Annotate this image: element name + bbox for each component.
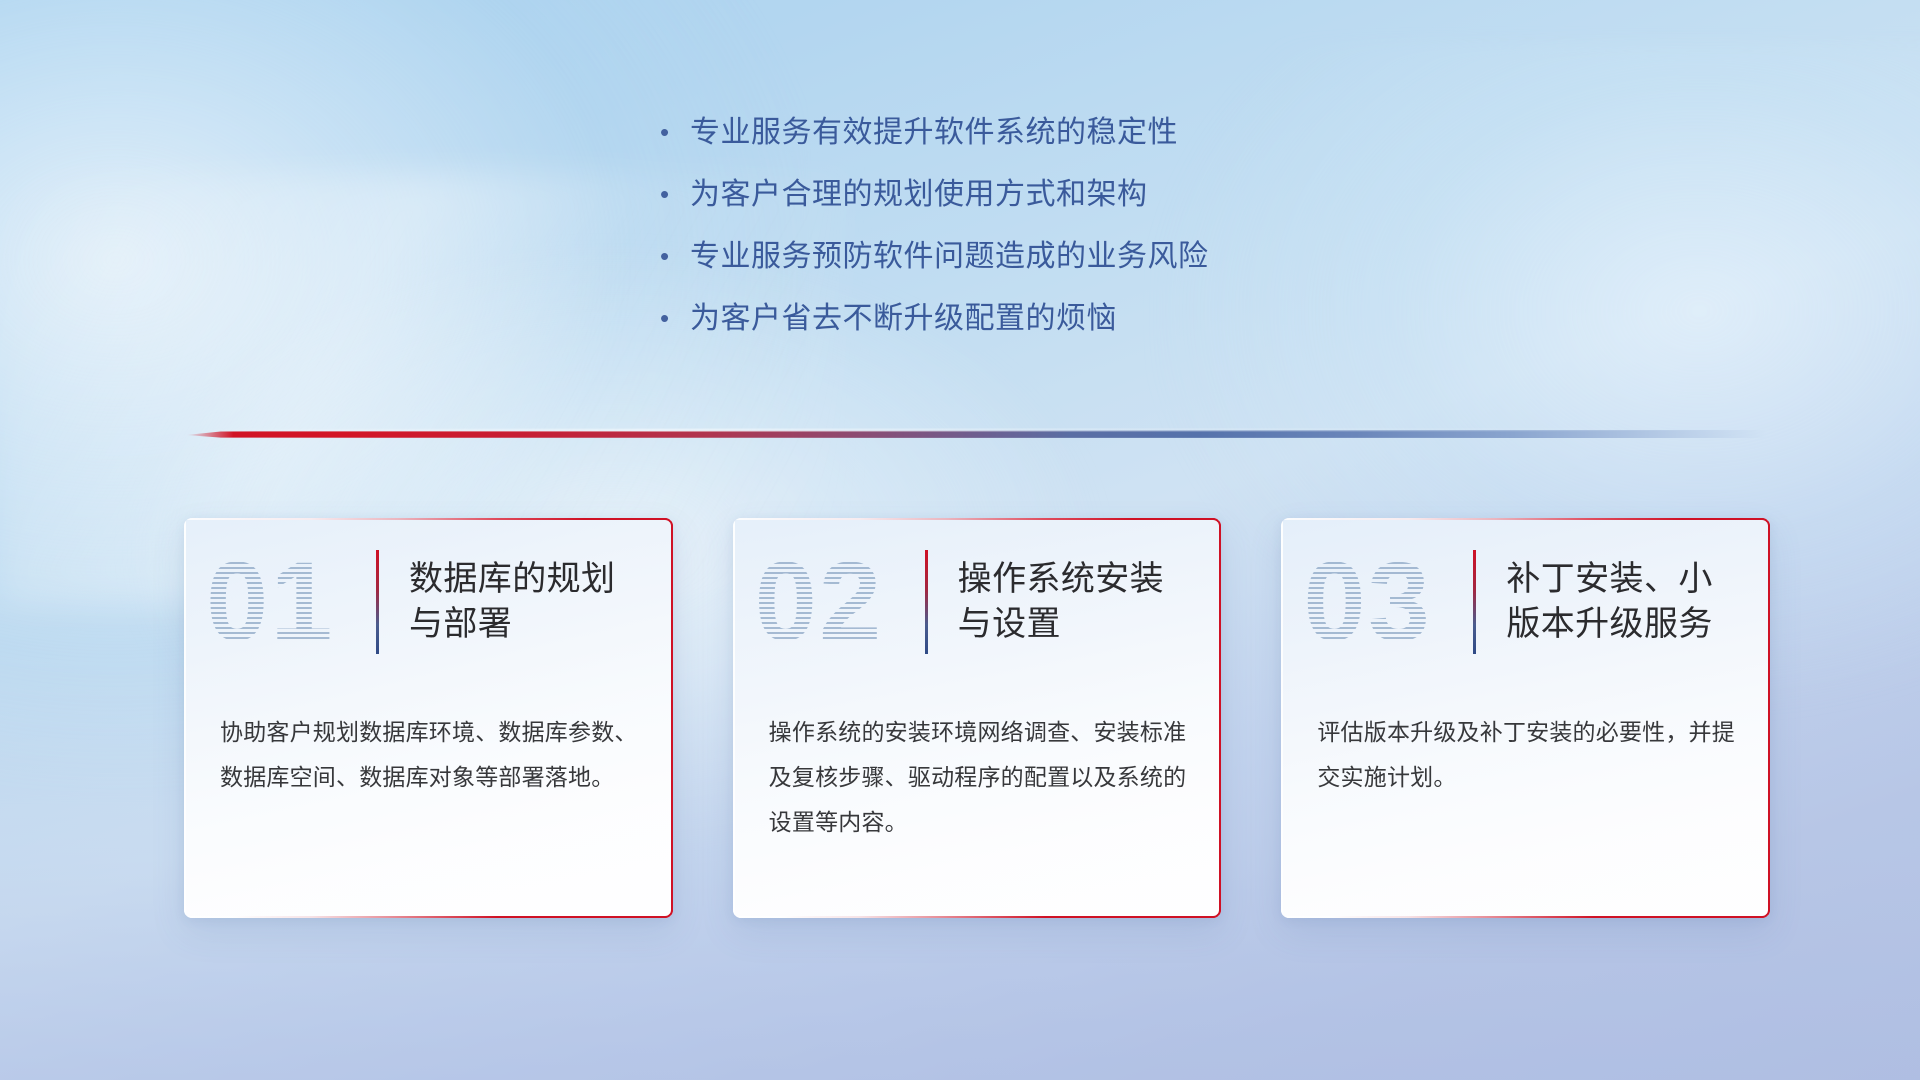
bullet-text: 专业服务有效提升软件系统的稳定性 (690, 118, 1480, 148)
card-header: 02 操作系统安装与设置 (733, 518, 1222, 686)
service-card-01[interactable]: 01 数据库的规划与部署 协助客户规划数据库环境、数据库参数、数据库空间、数据库… (184, 518, 673, 918)
card-number: 02 (755, 542, 925, 662)
bullet-item: • 为客户合理的规划使用方式和架构 (660, 180, 1480, 210)
card-title: 数据库的规划与部署 (409, 557, 643, 647)
bullet-item: • 专业服务预防软件问题造成的业务风险 (660, 242, 1480, 272)
card-title: 补丁安装、小版本升级服务 (1506, 557, 1740, 647)
card-divider-rule (1473, 550, 1476, 654)
card-divider-rule (925, 550, 928, 654)
card-header: 03 补丁安装、小版本升级服务 (1281, 518, 1770, 686)
section-divider (186, 424, 1766, 446)
card-number: 03 (1303, 542, 1473, 662)
divider-gradient-bar (186, 430, 1766, 438)
card-corner-bottom-right (663, 908, 673, 918)
card-description: 评估版本升级及补丁安装的必要性，并提交实施计划。 (1281, 686, 1770, 800)
bullet-dot-icon: • (660, 242, 690, 272)
card-description: 协助客户规划数据库环境、数据库参数、数据库空间、数据库对象等部署落地。 (184, 686, 673, 800)
card-divider-rule (376, 550, 379, 654)
bullet-dot-icon: • (660, 304, 690, 334)
bullet-dot-icon: • (660, 180, 690, 210)
service-card-grid: 01 数据库的规划与部署 协助客户规划数据库环境、数据库参数、数据库空间、数据库… (184, 518, 1770, 918)
bullet-dot-icon: • (660, 118, 690, 148)
card-description: 操作系统的安装环境网络调查、安装标准及复核步骤、驱动程序的配置以及系统的设置等内… (733, 686, 1222, 845)
card-corner-bottom-right (1211, 908, 1221, 918)
bullet-text: 为客户省去不断升级配置的烦恼 (690, 304, 1480, 334)
bullet-item: • 为客户省去不断升级配置的烦恼 (660, 304, 1480, 334)
card-header: 01 数据库的规划与部署 (184, 518, 673, 686)
bullet-text: 为客户合理的规划使用方式和架构 (690, 180, 1480, 210)
service-card-02[interactable]: 02 操作系统安装与设置 操作系统的安装环境网络调查、安装标准及复核步骤、驱动程… (733, 518, 1222, 918)
bullet-item: • 专业服务有效提升软件系统的稳定性 (660, 118, 1480, 148)
bullet-text: 专业服务预防软件问题造成的业务风险 (690, 242, 1480, 272)
card-title: 操作系统安装与设置 (958, 557, 1192, 647)
card-accent-bottom-edge (733, 916, 1222, 918)
benefits-bullet-list: • 专业服务有效提升软件系统的稳定性 • 为客户合理的规划使用方式和架构 • 专… (660, 118, 1480, 366)
card-accent-bottom-edge (184, 916, 673, 918)
service-card-03[interactable]: 03 补丁安装、小版本升级服务 评估版本升级及补丁安装的必要性，并提交实施计划。 (1281, 518, 1770, 918)
card-accent-bottom-edge (1281, 916, 1770, 918)
card-number: 01 (206, 542, 376, 662)
card-corner-bottom-right (1760, 908, 1770, 918)
